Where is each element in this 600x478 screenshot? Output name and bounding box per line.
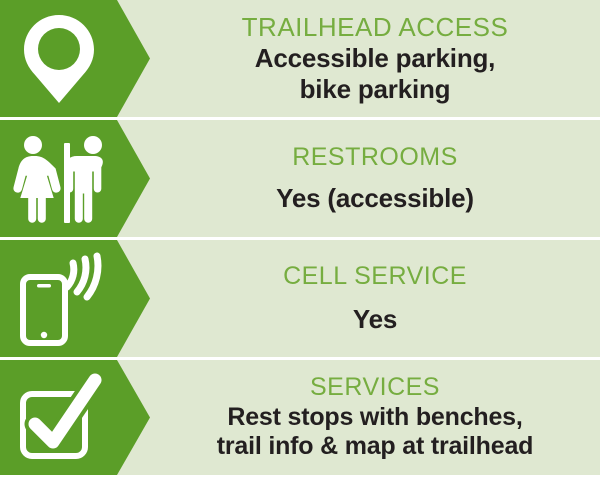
row-text-block: RESTROOMS Yes (accessible) bbox=[150, 120, 600, 237]
chevron-plate bbox=[0, 240, 150, 357]
info-row-cell-service: CELL SERVICE Yes bbox=[0, 240, 600, 357]
chevron-plate bbox=[0, 0, 150, 117]
row-value: Yes (accessible) bbox=[276, 183, 474, 213]
row-value: Yes bbox=[353, 304, 397, 334]
row-text-block: SERVICES Rest stops with benches, trail … bbox=[150, 360, 600, 475]
info-row-services: SERVICES Rest stops with benches, trail … bbox=[0, 360, 600, 475]
row-text-block: TRAILHEAD ACCESS Accessible parking, bik… bbox=[150, 0, 600, 117]
row-value: Accessible parking, bike parking bbox=[255, 43, 495, 103]
row-value-line-1: Yes (accessible) bbox=[276, 183, 474, 213]
row-value-line-2: bike parking bbox=[255, 74, 495, 104]
row-heading: RESTROOMS bbox=[292, 144, 458, 171]
row-value: Rest stops with benches, trail info & ma… bbox=[217, 403, 533, 461]
row-value-line-1: Yes bbox=[353, 304, 397, 334]
row-value-line-1: Accessible parking, bbox=[255, 43, 495, 73]
row-value-line-1: Rest stops with benches, bbox=[217, 403, 533, 432]
info-row-trailhead-access: TRAILHEAD ACCESS Accessible parking, bik… bbox=[0, 0, 600, 117]
info-row-restrooms: RESTROOMS Yes (accessible) bbox=[0, 120, 600, 237]
row-value-line-2: trail info & map at trailhead bbox=[217, 432, 533, 461]
chevron-plate bbox=[0, 120, 150, 237]
row-heading: CELL SERVICE bbox=[283, 263, 467, 290]
row-heading: SERVICES bbox=[310, 374, 440, 401]
row-heading: TRAILHEAD ACCESS bbox=[242, 13, 509, 41]
row-text-block: CELL SERVICE Yes bbox=[150, 240, 600, 357]
trail-amenities-infographic: TRAILHEAD ACCESS Accessible parking, bik… bbox=[0, 0, 600, 478]
chevron-plate bbox=[0, 360, 150, 475]
